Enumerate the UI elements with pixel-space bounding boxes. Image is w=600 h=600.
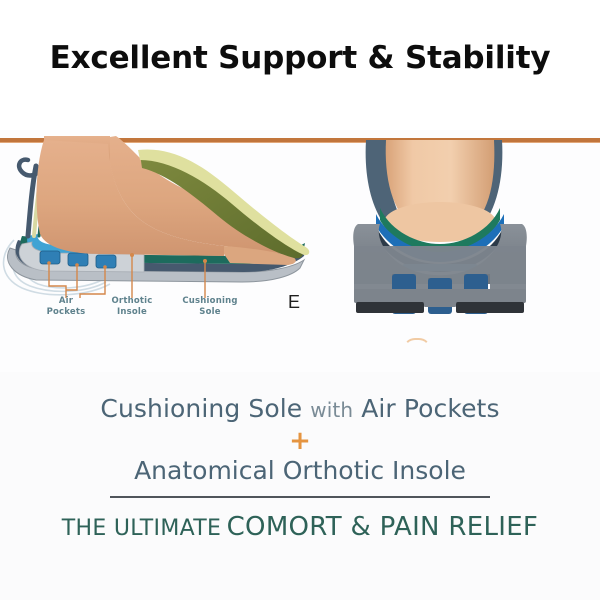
tagline-prefix: THE ULTIMATE (62, 516, 221, 541)
floating-letter-e: E (288, 292, 300, 313)
benefit-line-orthotic-insole: Anatomical Orthotic Insole (0, 456, 600, 485)
page-title: Excellent Support & Stability (0, 40, 600, 76)
tagline-main: COMORT & PAIN RELIEF (227, 512, 539, 542)
benefits-divider (110, 496, 490, 498)
benefit-line-cushioning-sole: Cushioning Sole with Air Pockets (0, 394, 600, 423)
foot-front-view-sandal (330, 134, 580, 334)
side-view-callouts: Air Pockets Orthotic Insole Cushioning S… (0, 296, 322, 341)
benefit-text-air-pockets: Air Pockets (361, 394, 499, 423)
callout-orthotic-insole: Orthotic Insole (96, 296, 168, 318)
plus-glyph: + (289, 426, 311, 456)
orange-arc-marker (403, 338, 431, 354)
callout-line-2: Pockets (47, 307, 86, 317)
illustration-band: Air Pockets Orthotic Insole Cushioning S… (0, 130, 600, 375)
benefit-text-cushioning-sole: Cushioning Sole (100, 394, 302, 423)
callout-line-1: Air (59, 296, 73, 306)
plus-icon: + (0, 428, 600, 454)
foot-side-view-sandal: Air Pockets Orthotic Insole Cushioning S… (0, 136, 322, 336)
promo-image-canvas: Excellent Support & Stability (0, 0, 600, 600)
callout-line-1: Orthotic (112, 296, 153, 306)
callout-air-pockets: Air Pockets (36, 296, 96, 318)
benefits-block: Cushioning Sole with Air Pockets + Anato… (0, 372, 600, 600)
benefit-text-with: with (310, 398, 353, 422)
tagline: THE ULTIMATE COMORT & PAIN RELIEF (0, 512, 600, 542)
callout-line-2: Insole (117, 307, 147, 317)
callout-line-1: Cushioning (182, 296, 237, 306)
callout-line-2: Sole (199, 307, 220, 317)
callout-cushioning-sole: Cushioning Sole (170, 296, 250, 318)
